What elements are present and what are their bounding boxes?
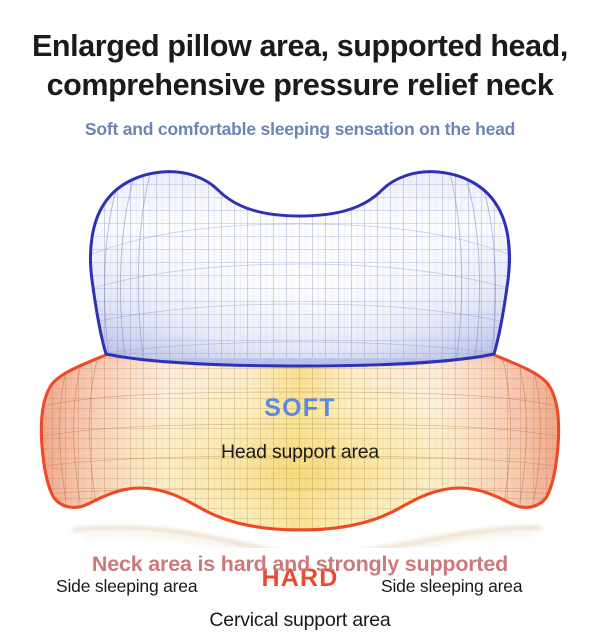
zone-label-side-sleeping-right: Side sleeping area: [381, 576, 522, 597]
page-subtitle: Soft and comfortable sleeping sensation …: [0, 105, 600, 140]
page-title-line-2: comprehensive pressure relief neck: [28, 66, 572, 105]
pillow-diagram-svg: [0, 158, 600, 548]
pillow-lower-hard-layer: [30, 338, 570, 548]
pillow-illustration: SOFT Head support area HARD Side sleepin…: [0, 158, 600, 548]
upper-layer-mesh: [80, 158, 520, 373]
footer-caption: Neck area is hard and strongly supported: [0, 552, 600, 577]
zone-label-cervical-support: Cervical support area: [0, 609, 600, 632]
page-title: Enlarged pillow area, supported head, co…: [0, 0, 600, 105]
zone-label-side-sleeping-left: Side sleeping area: [56, 576, 197, 597]
lower-layer-mesh: [30, 338, 570, 548]
page-title-line-1: Enlarged pillow area, supported head,: [28, 27, 572, 66]
header-text-block: Enlarged pillow area, supported head, co…: [0, 0, 600, 140]
pillow-upper-soft-layer: [80, 158, 520, 373]
